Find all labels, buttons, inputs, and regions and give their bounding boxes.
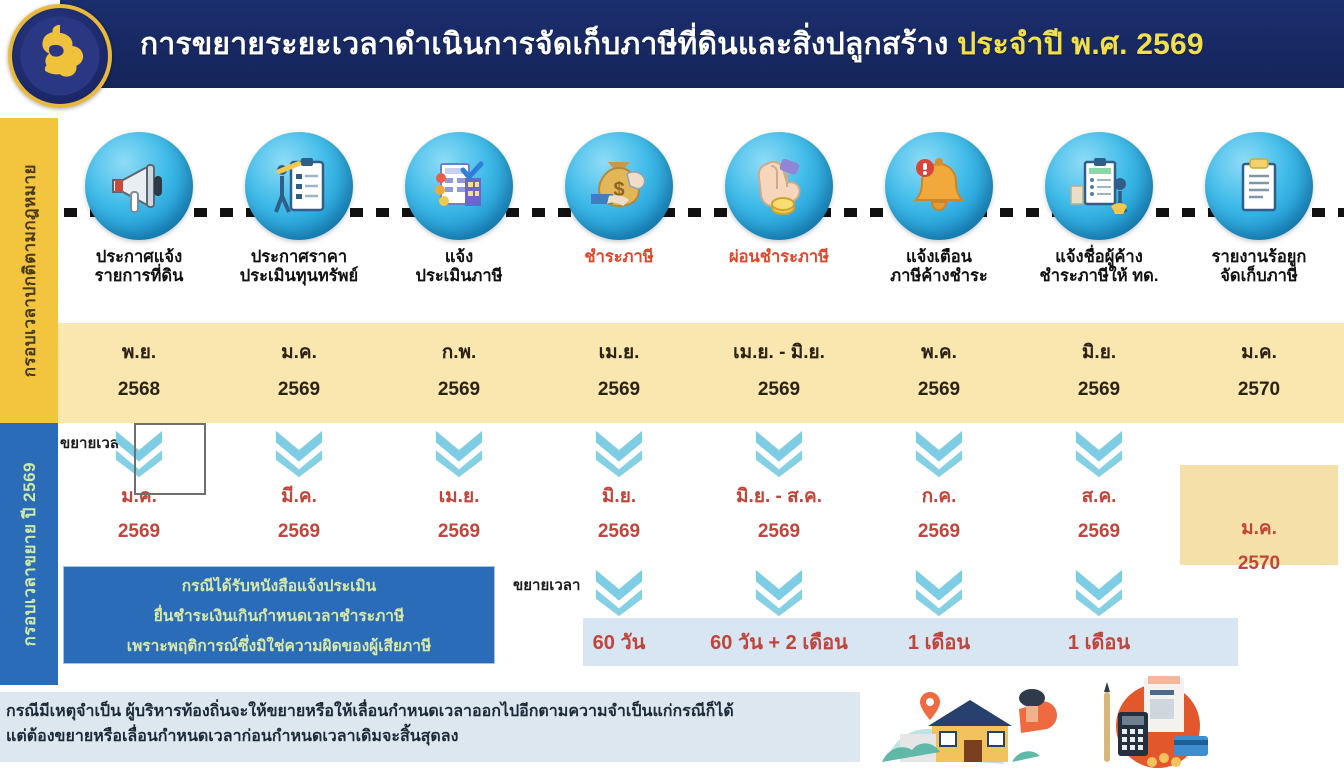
step-label: แจ้งเตือน ภาษีค้างชำระ	[860, 248, 1018, 287]
step-label: แจ้งชื่อผู้ค้าง ชำระภาษีให้ ทด.	[1020, 248, 1178, 287]
normal-date-month: ม.ค.	[220, 337, 378, 367]
step-label: ประกาศแจ้ง รายการที่ดิน	[60, 248, 218, 287]
timeline-step-7[interactable]: แจ้งชื่อผู้ค้าง ชำระภาษีให้ ทด.	[1020, 132, 1178, 287]
footer-line-2: แต่ต้องขยายหรือเลื่อนกำหนดเวลาก่อนกำหนดเ…	[6, 725, 852, 750]
debtor-list-icon	[1045, 132, 1153, 240]
normal-date-month: ม.ค.	[1180, 337, 1338, 367]
note-line-3: เพราะพฤติการณ์ซึ่งมิใช่ความผิดของผู้เสีย…	[127, 633, 431, 658]
footer-note: กรณีมีเหตุจำเป็น ผู้บริหารท้องถิ่นจะให้ข…	[0, 692, 860, 762]
extended-date-cell-7: ส.ค.2569	[1020, 427, 1178, 543]
normal-date-year: 2570	[1180, 379, 1338, 401]
extended-date-year: 2569	[540, 521, 698, 543]
rail-extended-label: กรอบเวลาขยาย ปี 2569	[16, 462, 43, 646]
normal-date-year: 2569	[220, 379, 378, 401]
clipboard-pen-icon	[245, 132, 353, 240]
timeline-step-3[interactable]: แจ้ง ประเมินภาษี	[380, 132, 538, 287]
timeline-step-8[interactable]: รายงานร้อยูก จัดเก็บภาษี	[1180, 132, 1338, 287]
money-bag-icon: $	[565, 132, 673, 240]
extended-date-month: มิ.ย.	[540, 481, 698, 511]
timeline-stage: ประกาศแจ้ง รายการที่ดินประกาศราคา ประเมิ…	[58, 118, 1344, 685]
extended-date-year: 2570	[1180, 553, 1338, 575]
note-line-1: กรณีได้รับหนังสือแจ้งประเมิน	[182, 573, 377, 598]
normal-date-month: ก.พ.	[380, 337, 538, 367]
selection-highlight-box[interactable]	[134, 423, 206, 495]
extended-dates-row: ขยายเวลา ม.ค.2569มี.ค.2569เม.ย.2569มิ.ย.…	[58, 423, 1344, 568]
page-title: การขยายระยะเวลาดำเนินการจัดเก็บภาษีที่ดิ…	[60, 21, 1204, 68]
footer-line-1: กรณีมีเหตุจำเป็น ผู้บริหารท้องถิ่นจะให้ข…	[6, 700, 852, 725]
rail-extended-timeline: กรอบเวลาขยาย ปี 2569	[0, 423, 58, 685]
normal-date-cell-3: ก.พ.2569	[380, 337, 538, 401]
step-label: ชำระภาษี	[540, 248, 698, 267]
title-main-text: การขยายระยะเวลาดำเนินการจัดเก็บภาษีที่ดิ…	[140, 28, 957, 61]
normal-date-cell-6: พ.ค.2569	[860, 337, 1018, 401]
duration-value-1: 60 วัน	[540, 618, 698, 666]
title-year-text: ประจำปี พ.ศ. 2569	[957, 28, 1204, 61]
normal-date-year: 2569	[1020, 379, 1178, 401]
extended-date-year: 2569	[1020, 521, 1178, 543]
step-label: แจ้ง ประเมินภาษี	[380, 248, 538, 287]
normal-date-cell-2: ม.ค.2569	[220, 337, 378, 401]
duration-value-2: 60 วัน + 2 เดือน	[700, 618, 858, 666]
bell-alert-icon	[885, 132, 993, 240]
normal-date-cell-7: มิ.ย.2569	[1020, 337, 1178, 401]
hand-coin-icon	[725, 132, 833, 240]
normal-date-month: พ.ค.	[860, 337, 1018, 367]
assessment-note-box: กรณีได้รับหนังสือแจ้งประเมิน ยื่นชำระเงิ…	[63, 566, 495, 664]
calculator-document-illustration-icon	[1090, 676, 1220, 768]
header-bar: การขยายระยะเวลาดำเนินการจัดเก็บภาษีที่ดิ…	[60, 0, 1344, 88]
extended-date-cell-8: ม.ค.2570	[1180, 465, 1338, 565]
timeline-step-2[interactable]: ประกาศราคา ประเมินทุนทรัพย์	[220, 132, 378, 287]
step-label: ผ่อนชำระภาษี	[700, 248, 858, 267]
normal-date-month: เม.ย. - มิ.ย.	[700, 337, 858, 367]
extended-date-year: 2569	[860, 521, 1018, 543]
extended-date-month: มิ.ย. - ส.ค.	[700, 481, 858, 511]
duration-chevron-4	[1020, 566, 1178, 618]
timeline-step-5[interactable]: ผ่อนชำระภาษี	[700, 132, 858, 267]
extended-date-year: 2569	[60, 521, 218, 543]
step-label: รายงานร้อยูก จัดเก็บภาษี	[1180, 248, 1338, 287]
extended-date-year: 2569	[220, 521, 378, 543]
extended-date-month: ก.ค.	[860, 481, 1018, 511]
timeline-step-4[interactable]: $ชำระภาษี	[540, 132, 698, 267]
megaphone-icon	[85, 132, 193, 240]
note-line-2: ยื่นชำระเงินเกินกำหนดเวลาชำระภาษี	[154, 603, 404, 628]
normal-date-cell-1: พ.ย.2568	[60, 337, 218, 401]
rail-normal-timeline: กรอบเวลาปกติตามกฎหมาย	[0, 118, 58, 423]
normal-date-year: 2569	[380, 379, 538, 401]
normal-date-year: 2569	[700, 379, 858, 401]
duration-value-3: 1 เดือน	[860, 618, 1018, 666]
normal-date-cell-5: เม.ย. - มิ.ย.2569	[700, 337, 858, 401]
extended-date-cell-3: เม.ย.2569	[380, 427, 538, 543]
normal-date-month: เม.ย.	[540, 337, 698, 367]
normal-date-month: พ.ย.	[60, 337, 218, 367]
infographic-page: การขยายระยะเวลาดำเนินการจัดเก็บภาษีที่ดิ…	[0, 0, 1344, 768]
timeline-step-6[interactable]: แจ้งเตือน ภาษีค้างชำระ	[860, 132, 1018, 287]
duration-value-4: 1 เดือน	[1020, 618, 1178, 666]
normal-date-year: 2569	[540, 379, 698, 401]
extended-date-month: มี.ค.	[220, 481, 378, 511]
duration-chevron-1	[540, 566, 698, 618]
normal-date-year: 2568	[60, 379, 218, 401]
normal-date-cell-8: ม.ค.2570	[1180, 337, 1338, 401]
garuda-emblem-icon	[8, 4, 112, 108]
duration-chevron-2	[700, 566, 858, 618]
extended-date-month: ม.ค.	[1180, 513, 1338, 543]
extended-date-year: 2569	[700, 521, 858, 543]
duration-chevron-3	[860, 566, 1018, 618]
normal-date-cell-4: เม.ย.2569	[540, 337, 698, 401]
extended-date-year: 2569	[380, 521, 538, 543]
extended-date-month: เม.ย.	[380, 481, 538, 511]
house-illustration-icon	[880, 676, 1070, 768]
normal-date-month: มิ.ย.	[1020, 337, 1178, 367]
extended-date-cell-4: มิ.ย.2569	[540, 427, 698, 543]
timeline-step-1[interactable]: ประกาศแจ้ง รายการที่ดิน	[60, 132, 218, 287]
rail-normal-label: กรอบเวลาปกติตามกฎหมาย	[16, 164, 43, 377]
step-label: ประกาศราคา ประเมินทุนทรัพย์	[220, 248, 378, 287]
extended-date-month: ส.ค.	[1020, 481, 1178, 511]
extended-date-cell-5: มิ.ย. - ส.ค.2569	[700, 427, 858, 543]
normal-dates-row: พ.ย.2568ม.ค.2569ก.พ.2569เม.ย.2569เม.ย. -…	[58, 323, 1344, 423]
report-icon	[1205, 132, 1313, 240]
extended-date-cell-2: มี.ค.2569	[220, 427, 378, 543]
normal-date-year: 2569	[860, 379, 1018, 401]
assessment-icon	[405, 132, 513, 240]
extended-date-cell-6: ก.ค.2569	[860, 427, 1018, 543]
icon-row: ประกาศแจ้ง รายการที่ดินประกาศราคา ประเมิ…	[58, 118, 1344, 323]
